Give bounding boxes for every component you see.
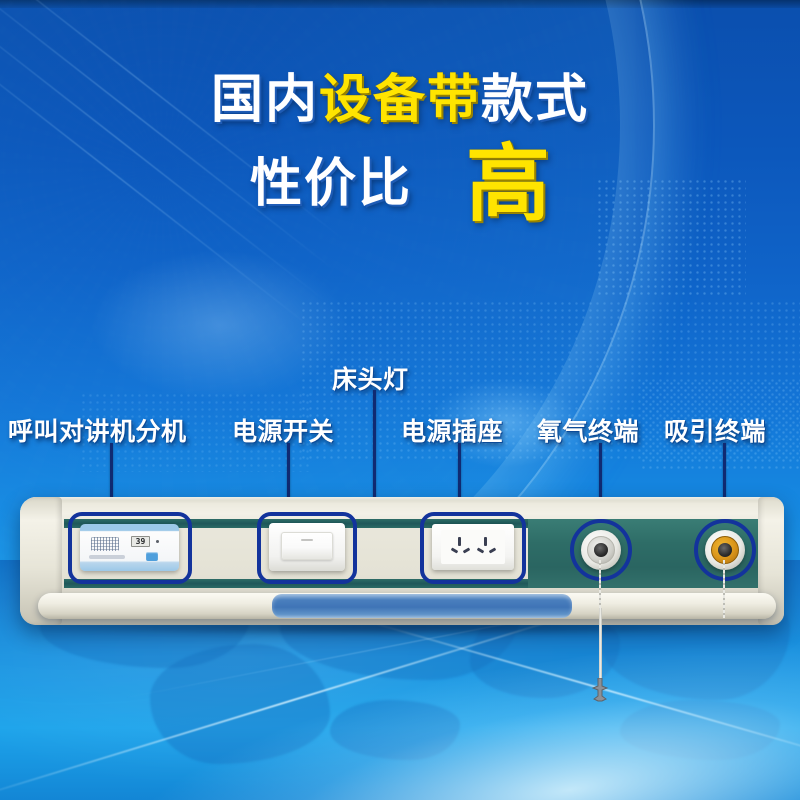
headline-seg-2: 设备带 (319, 70, 481, 130)
headline-line-2: 性价比高 (0, 142, 800, 226)
highlight-box-intercom (68, 512, 192, 584)
headline-seg-1: 国内 (211, 70, 319, 130)
headline-block: 国内设备带款式 性价比高 (0, 72, 800, 226)
highlight-box-switch (257, 512, 357, 584)
headline-seg-3: 款式 (481, 70, 589, 130)
suction-cord (723, 560, 725, 618)
callout-label-power-socket: 电源插座 (401, 412, 503, 448)
callout-label-bed-head-lamp: 床头灯 (332, 360, 409, 396)
callout-label-oxygen-terminal: 氧气终端 (537, 412, 639, 448)
pull-cord-cross-hook-icon[interactable] (589, 678, 611, 704)
highlight-circle-suction (694, 519, 756, 581)
call-pull-cord[interactable] (599, 608, 602, 686)
headline-line-1: 国内设备带款式 (0, 72, 800, 128)
light-diffuser (272, 594, 572, 618)
headline-seg-4: 性价比 (250, 154, 412, 214)
callout-label-suction-terminal: 吸引终端 (664, 412, 766, 448)
oxygen-cord (599, 560, 601, 608)
highlight-circle-oxygen (570, 519, 632, 581)
callout-label-nurse-call-intercom: 呼叫对讲机分机 (8, 412, 187, 448)
highlight-box-outlet (420, 512, 526, 584)
headline-seg-5: 高 (466, 135, 550, 233)
medical-bed-head-unit: 39 (20, 497, 784, 625)
callout-label-power-switch: 电源开关 (232, 412, 334, 448)
glow-blob (90, 250, 350, 400)
